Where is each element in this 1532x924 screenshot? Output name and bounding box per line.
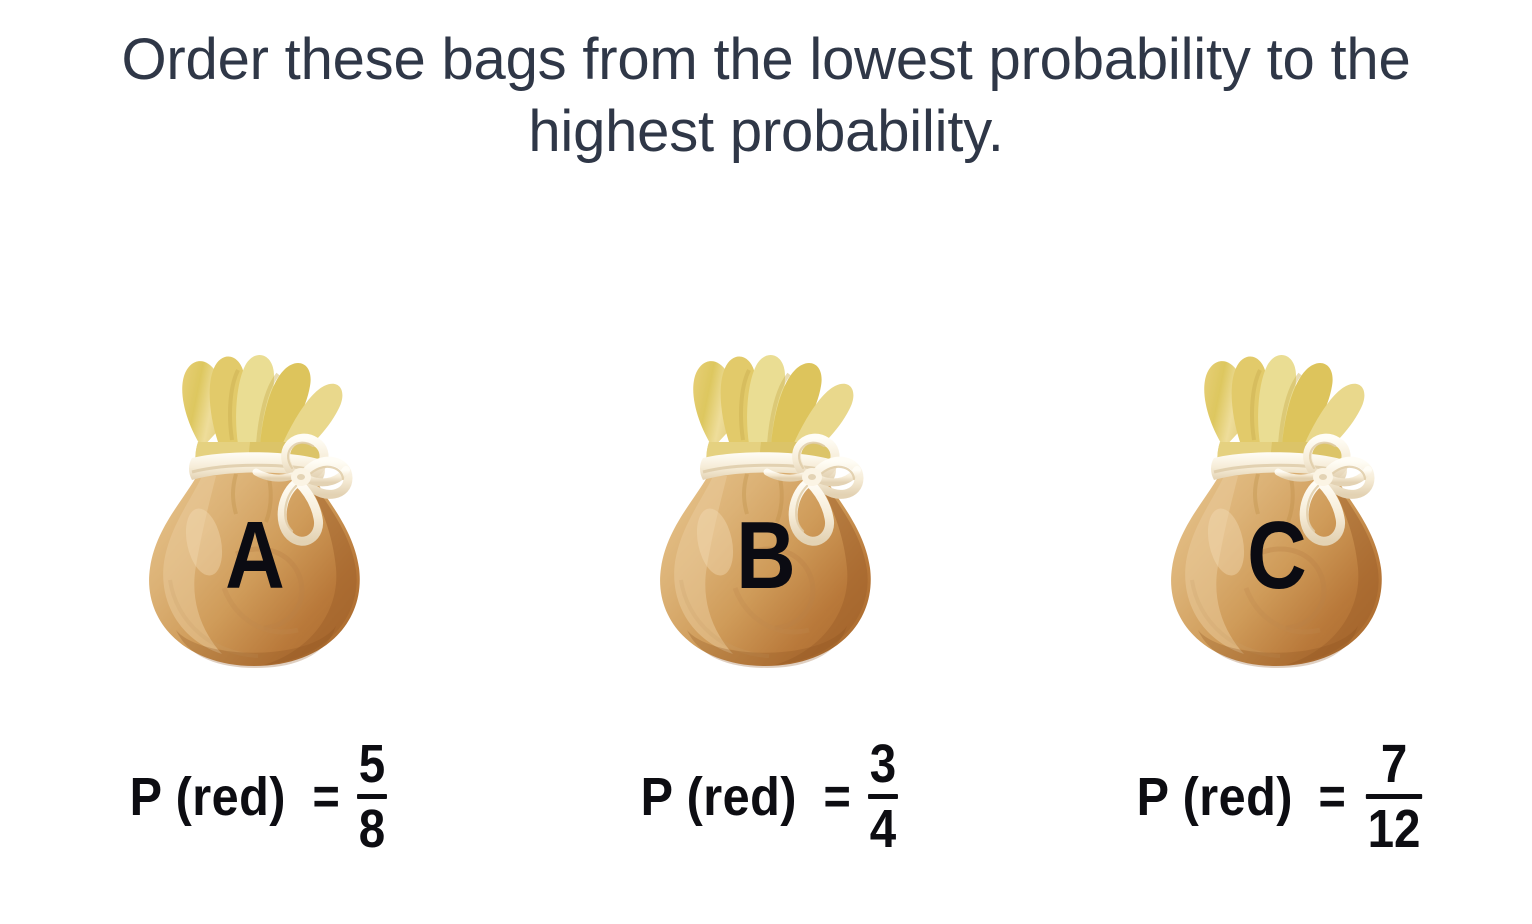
formula-lhs: P (red)	[641, 770, 797, 824]
numerator: 3	[868, 737, 898, 791]
formula-lhs: P (red)	[130, 770, 286, 824]
formula-lhs: P (red)	[1136, 770, 1292, 824]
numerator: 7	[1379, 737, 1409, 791]
money-bag-icon: B	[651, 330, 881, 675]
denominator: 8	[357, 802, 387, 856]
page-title: Order these bags from the lowest probabi…	[0, 24, 1532, 168]
bag-item-a[interactable]: A P (red) = 5 8	[45, 330, 465, 856]
equals-sign: =	[312, 771, 339, 823]
probability-formula-b: P (red) = 3 4	[632, 737, 900, 856]
bags-row: A P (red) = 5 8	[0, 330, 1532, 890]
fraction: 5 8	[357, 737, 387, 856]
bag-letter: B	[667, 508, 865, 604]
denominator: 12	[1365, 802, 1421, 856]
fraction: 3 4	[868, 737, 898, 856]
money-bag-icon: C	[1162, 330, 1392, 675]
bag-letter: A	[156, 508, 354, 604]
bag-item-b[interactable]: B P (red) = 3 4	[556, 330, 976, 856]
probability-formula-c: P (red) = 7 12	[1128, 737, 1426, 856]
denominator: 4	[868, 802, 898, 856]
bag-letter: C	[1178, 508, 1376, 604]
money-bag-icon: A	[140, 330, 370, 675]
equals-sign: =	[823, 771, 850, 823]
equals-sign: =	[1319, 771, 1346, 823]
probability-formula-a: P (red) = 5 8	[121, 737, 389, 856]
bag-item-c[interactable]: C P (red) = 7 12	[1067, 330, 1487, 856]
fraction: 7 12	[1365, 737, 1421, 856]
numerator: 5	[357, 737, 387, 791]
